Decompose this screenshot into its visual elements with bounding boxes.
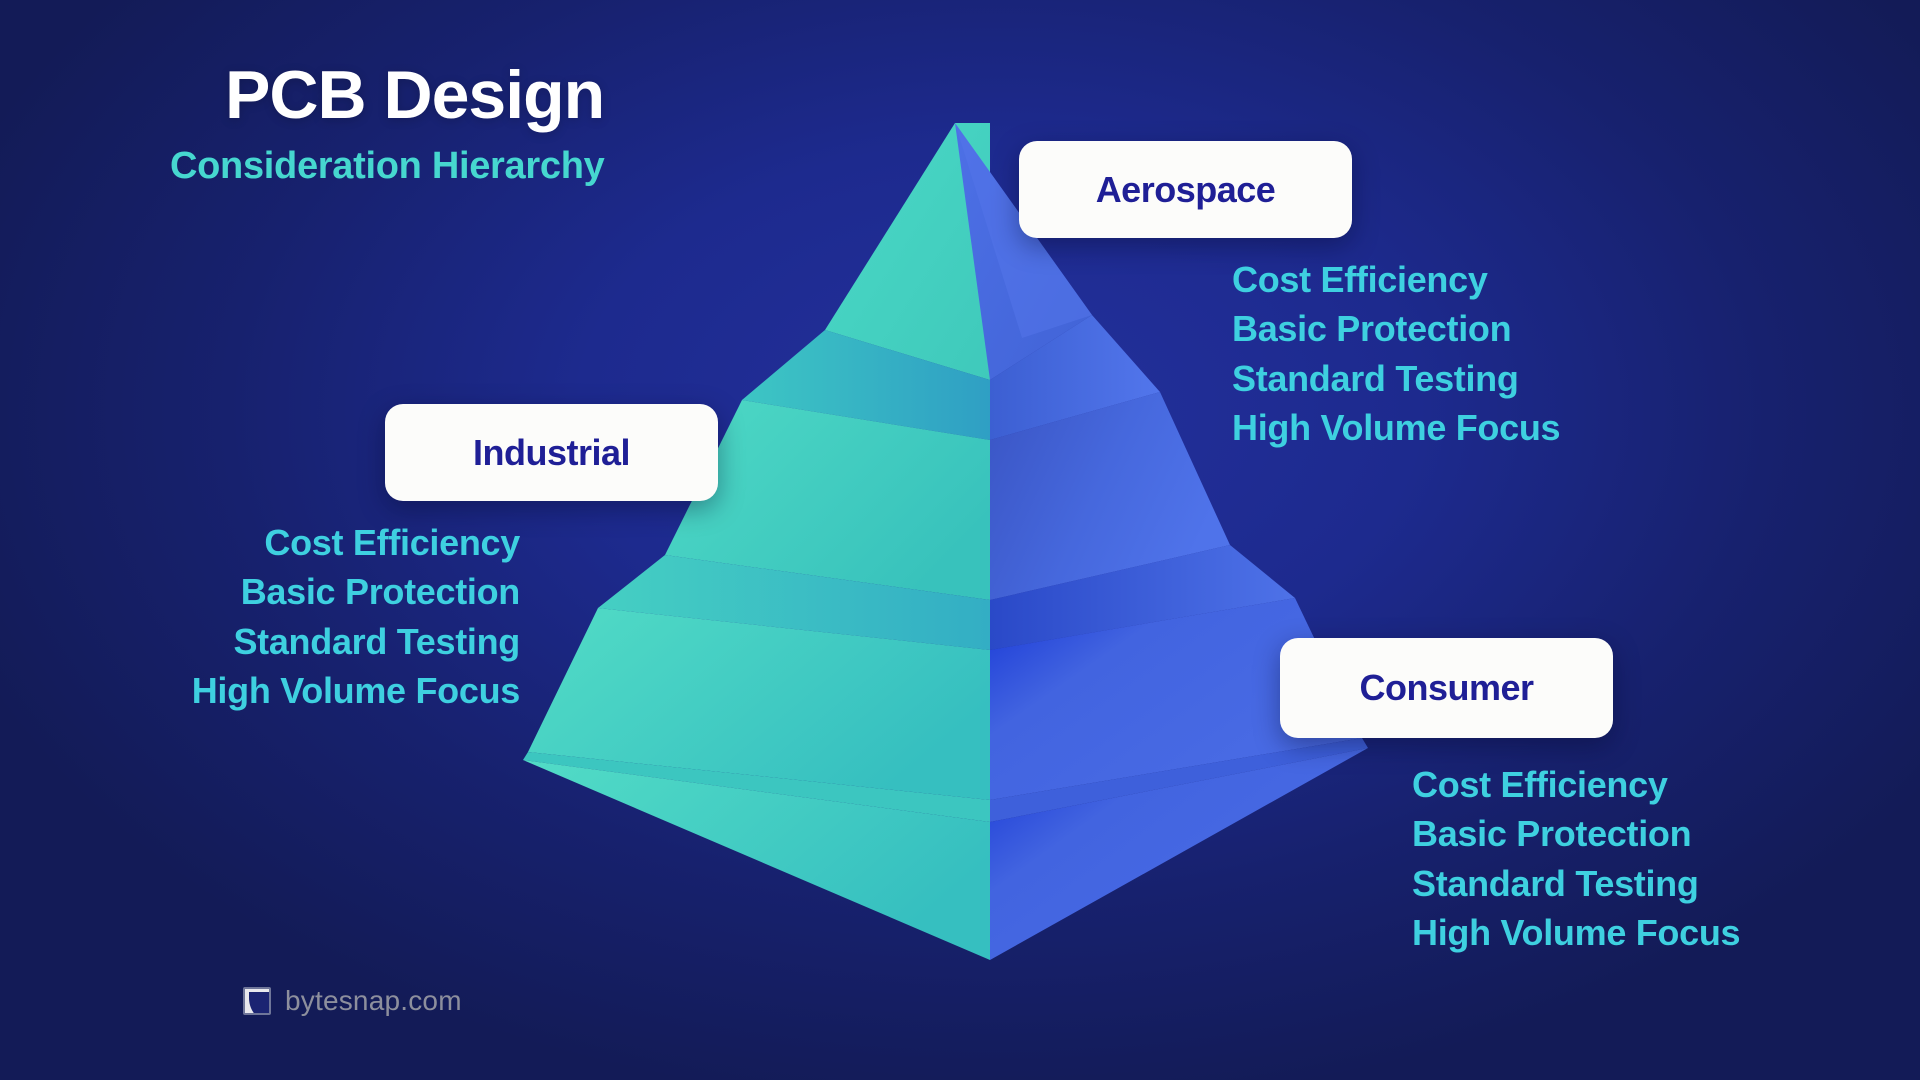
list-item: Cost Efficiency <box>1412 760 1668 809</box>
list-item: Standard Testing <box>1412 859 1699 908</box>
tier-card-consumer[interactable]: Consumer <box>1280 638 1613 738</box>
tier-list-aerospace: Cost Efficiency Basic Protection Standar… <box>1232 255 1560 452</box>
list-item: Standard Testing <box>1232 354 1519 403</box>
list-item: Basic Protection <box>241 567 520 616</box>
watermark: bytesnap.com <box>243 985 462 1017</box>
bytesnap-logo-icon <box>243 987 271 1015</box>
list-item: High Volume Focus <box>1232 403 1560 452</box>
tier-card-aerospace[interactable]: Aerospace <box>1019 141 1352 238</box>
list-item: High Volume Focus <box>1412 908 1740 957</box>
list-item: Cost Efficiency <box>1232 255 1488 304</box>
list-item: Basic Protection <box>1412 809 1691 858</box>
list-item: Standard Testing <box>233 617 520 666</box>
infographic-canvas: PCB Design Consideration Hierarchy <box>0 0 1920 1080</box>
list-item: Basic Protection <box>1232 304 1511 353</box>
list-item: High Volume Focus <box>192 666 520 715</box>
watermark-text: bytesnap.com <box>285 985 462 1017</box>
tier-card-aerospace-label: Aerospace <box>1096 169 1276 211</box>
list-item: Cost Efficiency <box>264 518 520 567</box>
tier-card-industrial[interactable]: Industrial <box>385 404 718 501</box>
tier-list-consumer: Cost Efficiency Basic Protection Standar… <box>1412 760 1740 957</box>
tier-list-industrial: Cost Efficiency Basic Protection Standar… <box>86 518 520 715</box>
tier-card-industrial-label: Industrial <box>473 432 630 474</box>
tier-card-consumer-label: Consumer <box>1359 667 1533 709</box>
